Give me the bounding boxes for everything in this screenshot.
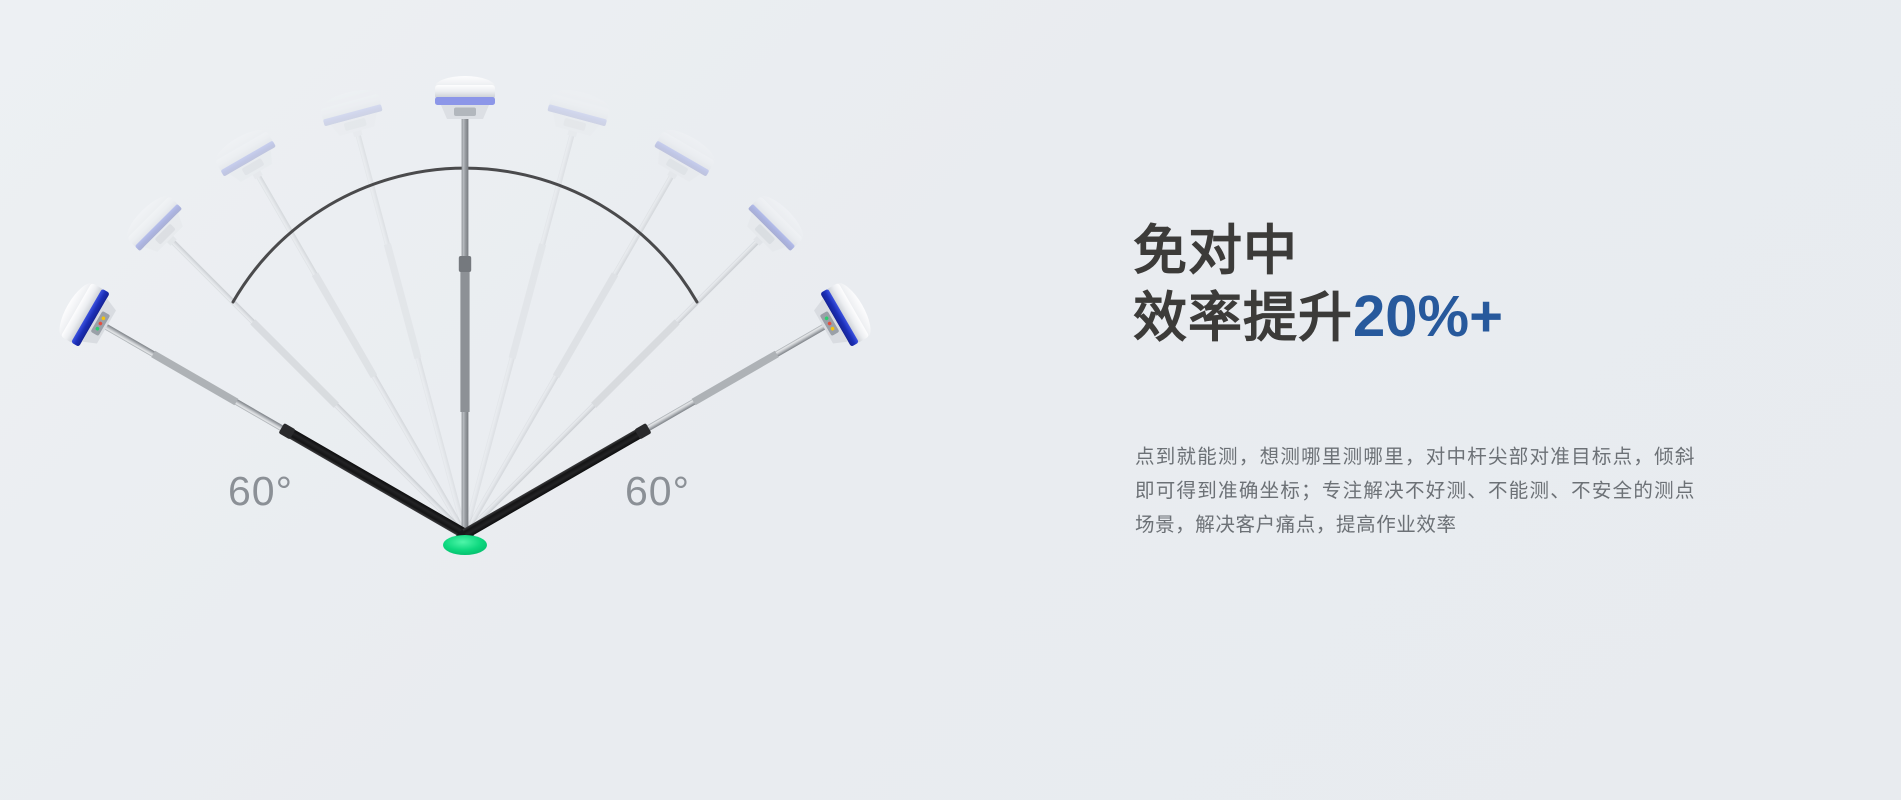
headline-line-2-prefix: 效率提升 [1133,288,1353,348]
pole-minus-60 [52,278,490,567]
angle-label-left: 60° [228,468,293,515]
headline-line-1: 免对中 [1133,218,1833,284]
headline-line-2: 效率提升20%+ [1133,284,1833,351]
headline-block: 免对中 效率提升20%+ [1133,218,1833,351]
gnss-pole-fan-illustration: 60° 60° [0,0,1100,800]
pole-minus-45 [121,190,487,556]
green-ground-point-marker [443,535,487,555]
fan-diagram-svg [0,0,1100,800]
promo-banner: 60° 60° 免对中 效率提升20%+ 点到就能测，想测哪里测哪里，对中杆尖部… [0,0,1901,800]
pole-center-0 [435,76,495,548]
text-panel: 免对中 效率提升20%+ 点到就能测，想测哪里测哪里，对中杆尖部对准目标点，倾斜… [1133,0,1833,800]
description-paragraph: 点到就能测，想测哪里测哪里，对中杆尖部对准目标点，倾斜即可得到准确坐标；专注解决… [1135,440,1695,542]
angle-label-right: 60° [625,468,690,515]
headline-accent-metric: 20%+ [1353,284,1503,349]
pole-plus-60 [439,278,877,567]
